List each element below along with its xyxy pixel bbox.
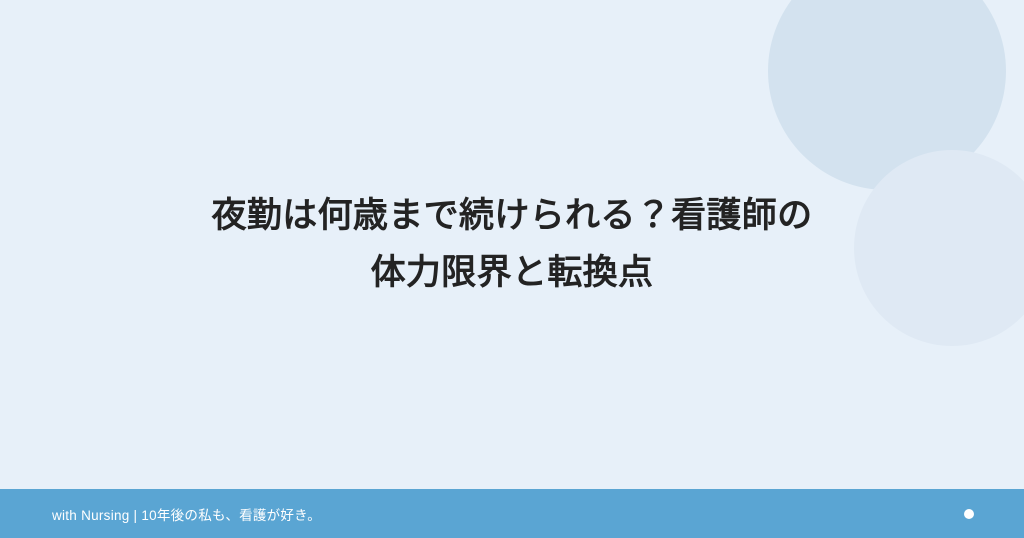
hero-section: 夜勤は何歳まで続けられる？看護師の 体力限界と転換点 bbox=[0, 0, 1024, 489]
dot-icon bbox=[964, 509, 974, 519]
page-title: 夜勤は何歳まで続けられる？看護師の 体力限界と転換点 bbox=[142, 188, 883, 301]
footer-brand-text: with Nursing | 10年後の私も、看護が好き。 bbox=[52, 504, 321, 524]
slide-canvas: 夜勤は何歳まで続けられる？看護師の 体力限界と転換点 with Nursing … bbox=[0, 0, 1024, 538]
footer-bar: with Nursing | 10年後の私も、看護が好き。 bbox=[0, 489, 1024, 538]
